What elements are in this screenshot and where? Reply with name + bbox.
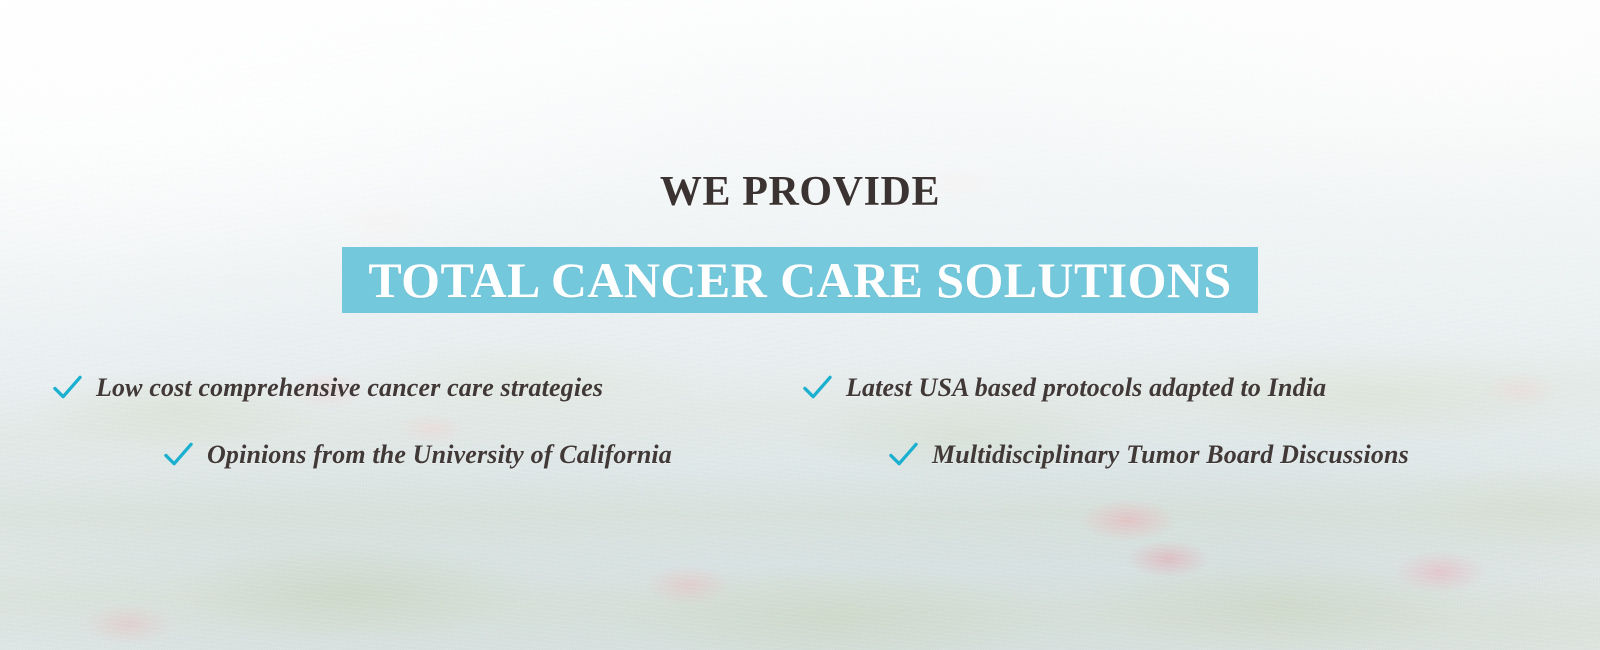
check-icon (888, 439, 919, 470)
feature-row: Opinions from the University of Californ… (0, 437, 1600, 504)
hero-headline-banner: TOTAL CANCER CARE SOLUTIONS (342, 247, 1257, 313)
check-icon (163, 439, 194, 470)
feature-item-usa-protocols: Latest USA based protocols adapted to In… (802, 372, 1326, 403)
hero-eyebrow: WE PROVIDE (0, 168, 1600, 216)
feature-list: Low cost comprehensive cancer care strat… (0, 370, 1600, 504)
feature-item-low-cost: Low cost comprehensive cancer care strat… (52, 372, 603, 403)
hero-banner: WE PROVIDE TOTAL CANCER CARE SOLUTIONS L… (0, 0, 1600, 650)
feature-item-uc-opinions: Opinions from the University of Californ… (163, 439, 672, 470)
hero-content: WE PROVIDE TOTAL CANCER CARE SOLUTIONS L… (0, 0, 1600, 650)
feature-label: Low cost comprehensive cancer care strat… (96, 373, 603, 403)
feature-label: Opinions from the University of Californ… (207, 440, 672, 470)
feature-row: Low cost comprehensive cancer care strat… (0, 370, 1600, 437)
check-icon (802, 372, 833, 403)
feature-label: Multidisciplinary Tumor Board Discussion… (932, 440, 1409, 470)
feature-item-tumor-board: Multidisciplinary Tumor Board Discussion… (888, 439, 1409, 470)
hero-headline-wrapper: TOTAL CANCER CARE SOLUTIONS (0, 247, 1600, 313)
check-icon (52, 372, 83, 403)
feature-label: Latest USA based protocols adapted to In… (846, 373, 1326, 403)
